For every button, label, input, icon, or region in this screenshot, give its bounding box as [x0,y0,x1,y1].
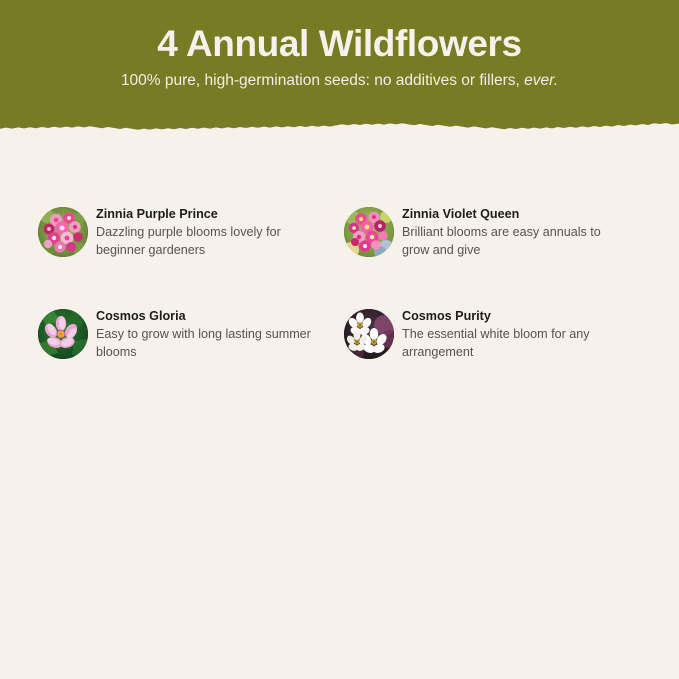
page-title: 4 Annual Wildflowers [0,22,679,66]
item-description: Brilliant blooms are easy annuals to gro… [402,222,618,259]
cosmos-gloria-photo [38,309,88,359]
page-subtitle: 100% pure, high-germination seeds: no ad… [0,66,679,91]
item-text-block: Cosmos Purity The essential white bloom … [394,300,618,361]
item-description: Easy to grow with long lasting summer bl… [96,324,312,361]
item-text-block: Zinnia Violet Queen Brilliant blooms are… [394,198,618,259]
item-description: The essential white bloom for any arrang… [402,324,618,361]
item-name: Zinnia Purple Prince [96,206,312,222]
list-item[interactable]: Zinnia Violet Queen Brilliant blooms are… [344,198,650,259]
list-item[interactable]: Cosmos Gloria Easy to grow with long las… [38,300,344,361]
item-text-block: Zinnia Purple Prince Dazzling purple blo… [88,198,312,259]
header-band: 4 Annual Wildflowers 100% pure, high-ger… [0,0,679,136]
item-name: Zinnia Violet Queen [402,206,618,222]
item-name: Cosmos Purity [402,308,618,324]
cosmos-purity-photo [344,309,394,359]
subtitle-main-text: 100% pure, high-germination seeds: no ad… [121,72,520,89]
item-text-block: Cosmos Gloria Easy to grow with long las… [88,300,312,361]
wildflower-list: Zinnia Purple Prince Dazzling purple blo… [0,198,679,361]
item-name: Cosmos Gloria [96,308,312,324]
list-item[interactable]: Cosmos Purity The essential white bloom … [344,300,650,361]
torn-paper-edge-icon [0,107,679,136]
item-description: Dazzling purple blooms lovely for beginn… [96,222,312,259]
zinnia-violet-queen-photo [344,207,394,257]
zinnia-purple-prince-photo [38,207,88,257]
header-content: 4 Annual Wildflowers 100% pure, high-ger… [0,0,679,91]
list-item[interactable]: Zinnia Purple Prince Dazzling purple blo… [38,198,344,259]
subtitle-emphasis-text: ever. [524,72,558,89]
